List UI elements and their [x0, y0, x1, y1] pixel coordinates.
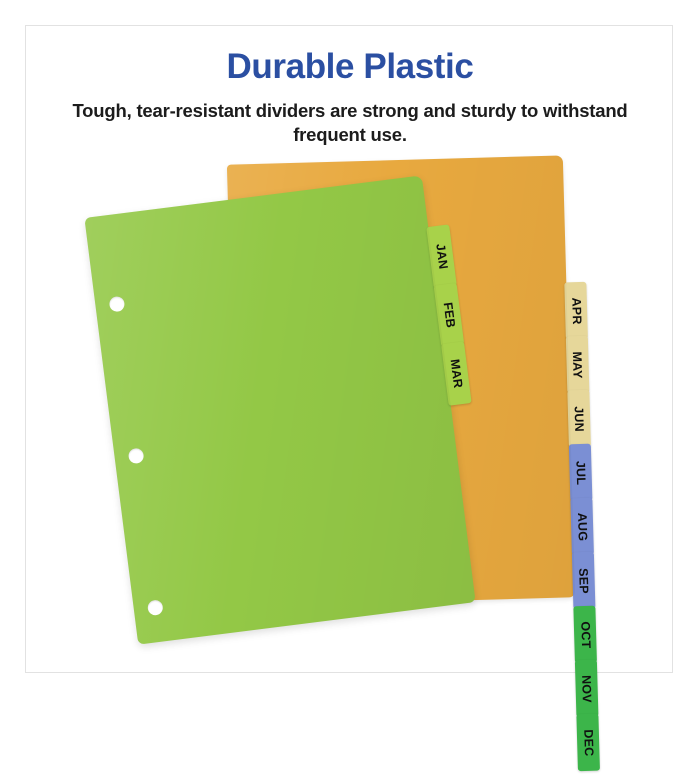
tab-jul-label: JUL [573, 460, 588, 485]
tab-dec[interactable]: DEC [576, 714, 600, 772]
tab-nov-label: NOV [579, 674, 594, 702]
product-image-canvas: Durable Plastic Tough, tear-resistant di… [0, 0, 700, 700]
page-title: Durable Plastic [0, 48, 700, 87]
tab-nov[interactable]: NOV [575, 660, 599, 718]
tab-aug-label: AUG [575, 512, 590, 541]
punch-hole [147, 599, 164, 616]
front-divider-sheet: JAN FEB MAR [84, 175, 475, 644]
tab-mar-label: MAR [448, 358, 466, 389]
tab-jun-label: JUN [572, 406, 587, 432]
tab-sep-label: SEP [576, 567, 591, 593]
tab-may-label: MAY [570, 351, 585, 379]
product-photo: APR MAY JUN JUL AUG SEP OCT [0, 150, 700, 660]
tab-oct[interactable]: OCT [573, 606, 597, 664]
tab-jun[interactable]: JUN [567, 390, 591, 448]
punch-hole [128, 448, 145, 465]
tab-sep[interactable]: SEP [572, 552, 596, 610]
tab-dec-label: DEC [581, 729, 596, 756]
tab-jan-label: JAN [433, 243, 450, 270]
tab-may[interactable]: MAY [566, 336, 590, 394]
page-subtitle: Tough, tear-resistant dividers are stron… [65, 99, 635, 148]
tab-jul[interactable]: JUL [569, 444, 593, 502]
tab-oct-label: OCT [578, 621, 593, 648]
tab-apr-label: APR [569, 297, 584, 324]
marketing-text-block: Durable Plastic Tough, tear-resistant di… [0, 48, 700, 148]
punch-hole [109, 296, 126, 313]
tab-feb-label: FEB [440, 301, 457, 328]
tab-apr[interactable]: APR [564, 282, 588, 340]
tab-aug[interactable]: AUG [570, 498, 594, 556]
